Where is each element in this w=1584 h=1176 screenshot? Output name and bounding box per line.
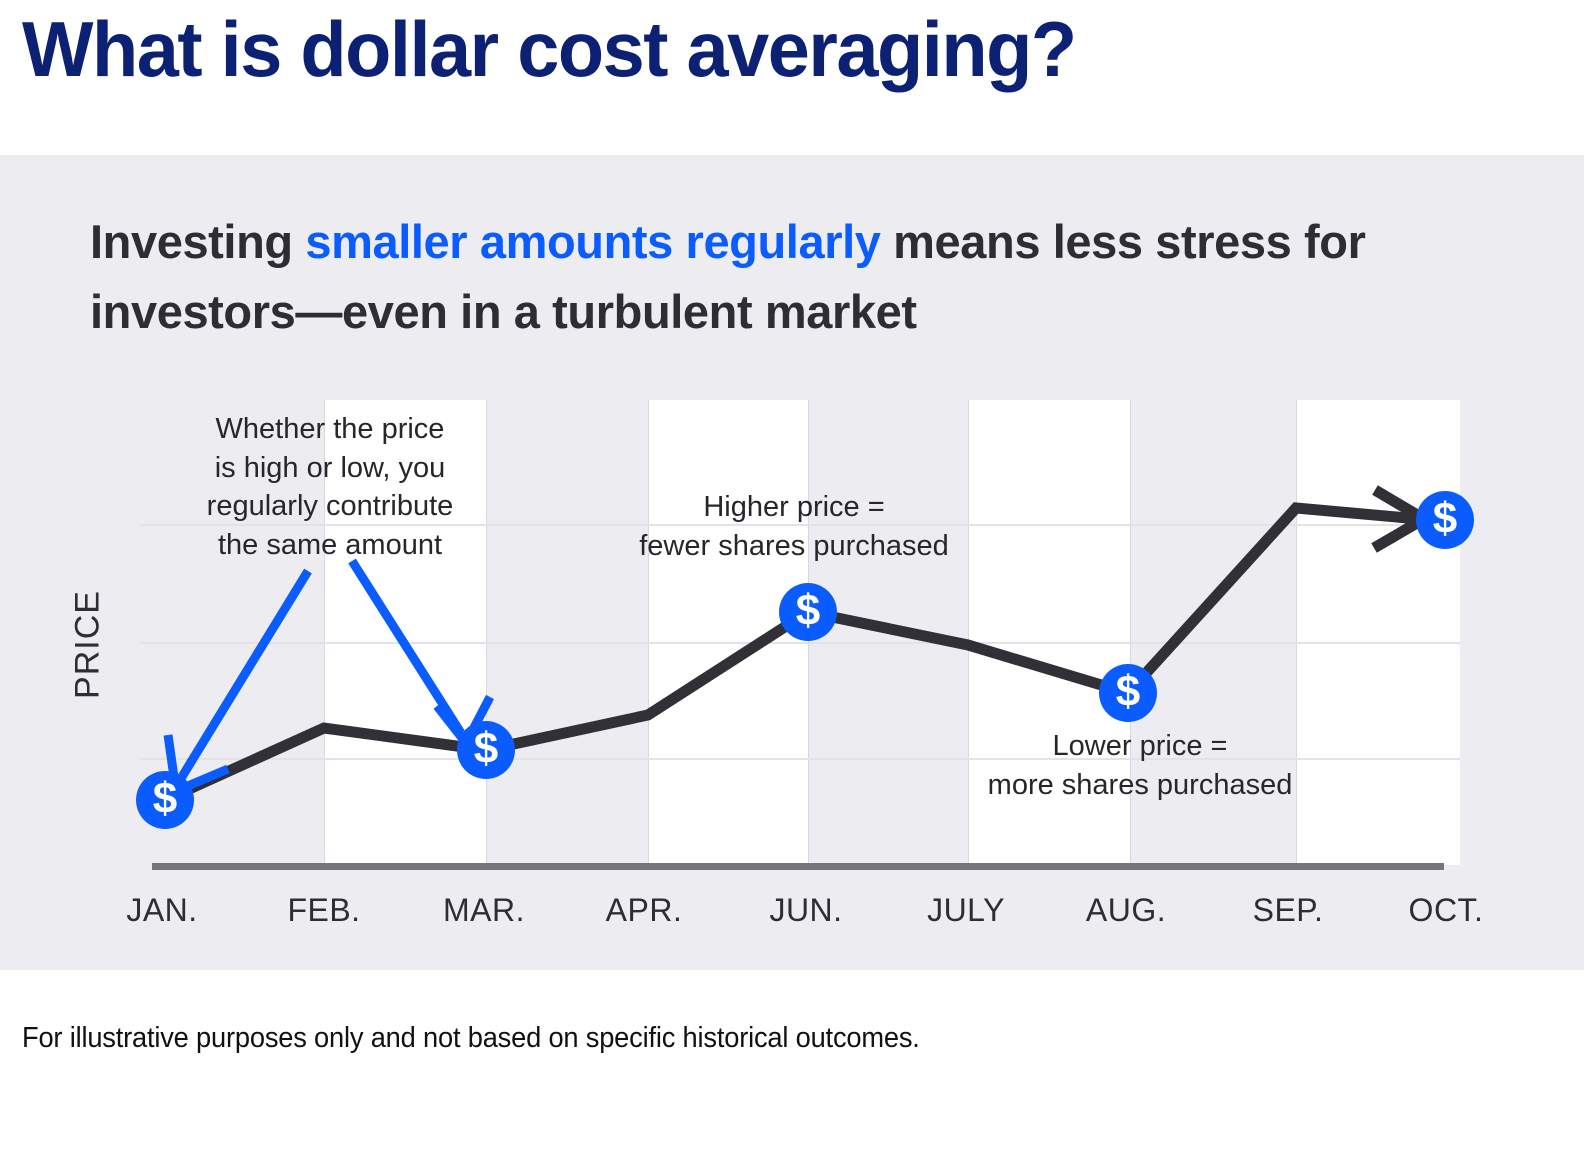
x-axis-label-aug: AUG.	[1036, 892, 1216, 929]
x-axis-label-sep: SEP.	[1198, 892, 1378, 929]
chart-axis-line	[152, 863, 1444, 870]
annotation-lower-price: Lower price = more shares purchased	[940, 727, 1340, 804]
footnote: For illustrative purposes only and not b…	[22, 1022, 920, 1055]
x-axis-label-jun: JUN.	[716, 892, 896, 929]
annotation-higher-price: Higher price = fewer shares purchased	[594, 488, 994, 565]
x-axis-label-feb: FEB.	[234, 892, 414, 929]
x-axis-label-jan: JAN.	[72, 892, 252, 929]
page-title: What is dollar cost averaging?	[22, 4, 1076, 95]
x-axis-label-mar: MAR.	[394, 892, 574, 929]
coin-marker-oct[interactable]: $	[1416, 491, 1474, 549]
price-line-chart: $ $ $ $ $ Whether the price is high or l…	[0, 155, 1584, 970]
infographic-panel: Investing smaller amounts regularly mean…	[0, 155, 1584, 970]
x-axis-label-apr: APR.	[554, 892, 734, 929]
coin-marker-mar[interactable]: $	[457, 721, 515, 779]
coin-marker-aug[interactable]: $	[1099, 664, 1157, 722]
x-axis-label-oct: OCT.	[1356, 892, 1536, 929]
y-axis-label: PRICE	[69, 545, 108, 745]
coin-marker-jun[interactable]: $	[779, 583, 837, 641]
x-axis-label-july: JULY	[876, 892, 1056, 929]
coin-marker-jan[interactable]: $	[136, 771, 194, 829]
annotation-contribute: Whether the price is high or low, you re…	[160, 410, 500, 564]
annotation-arrow-mar	[352, 561, 461, 733]
